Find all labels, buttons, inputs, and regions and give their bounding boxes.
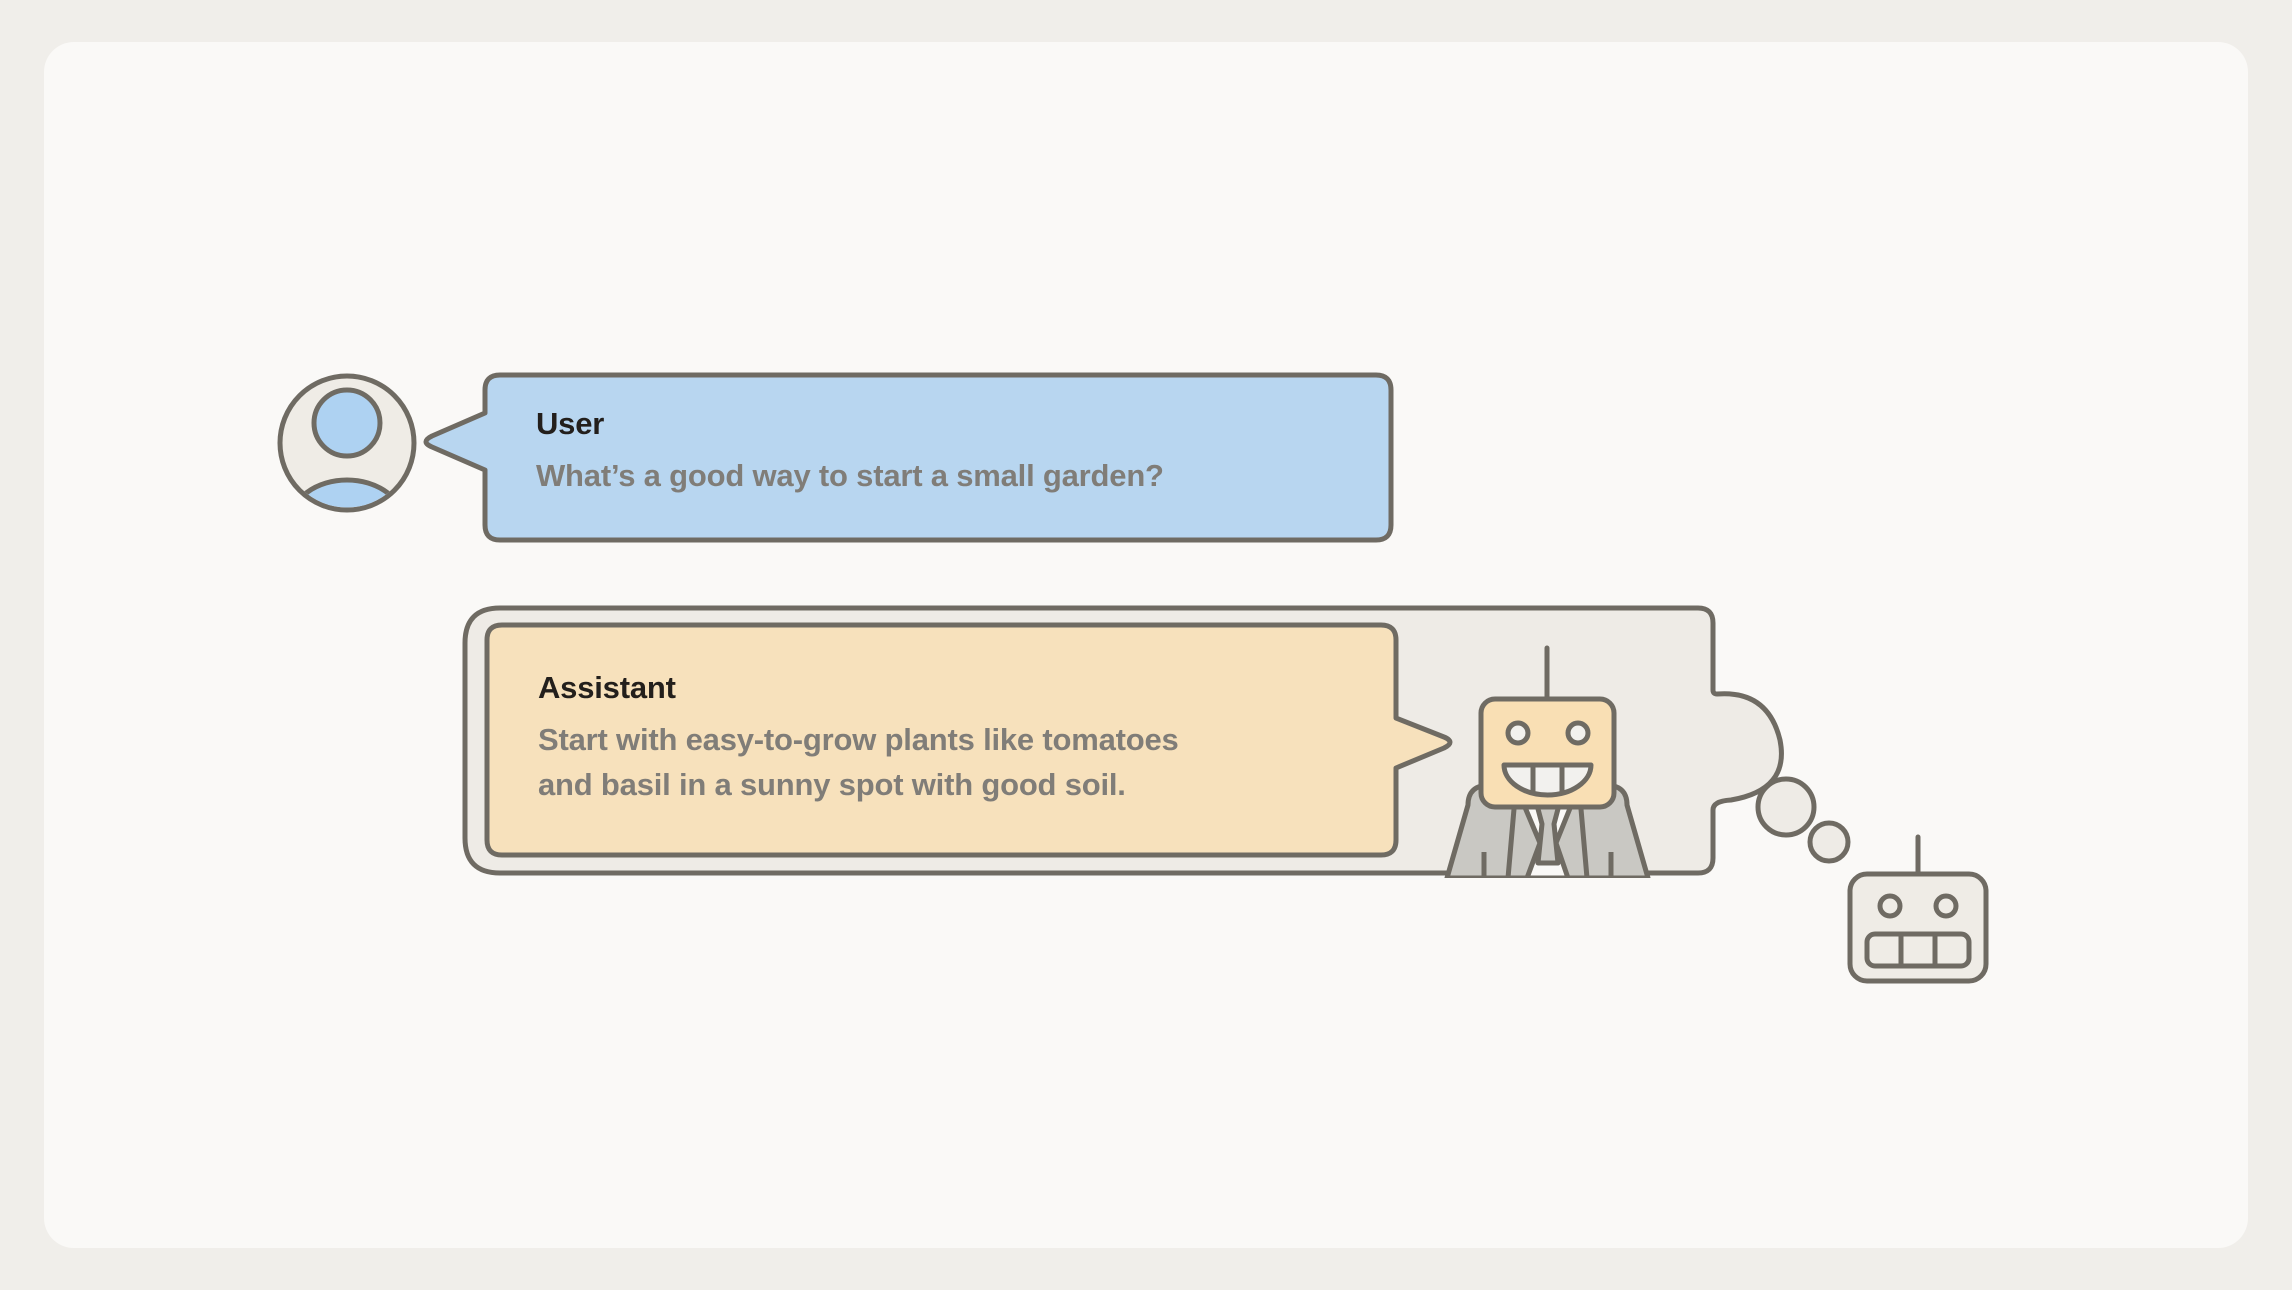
small-robot-head-icon bbox=[1850, 837, 1986, 981]
small-robot-mouth-icon bbox=[1867, 934, 1969, 966]
conversation-illustration bbox=[0, 0, 2292, 1290]
robot-head-icon bbox=[1481, 699, 1614, 807]
thought-trail-circle-large bbox=[1758, 779, 1814, 835]
robot-eye-left bbox=[1508, 723, 1528, 743]
user-message-line: What’s a good way to start a small garde… bbox=[536, 453, 1164, 498]
assistant-message-line: and basil in a sunny spot with good soil… bbox=[538, 762, 1179, 807]
assistant-role-label: Assistant bbox=[538, 672, 1179, 703]
illustration-canvas: User What’s a good way to start a small … bbox=[0, 0, 2292, 1290]
user-avatar-icon bbox=[280, 376, 414, 566]
assistant-message-text-group: Assistant Start with easy-to-grow plants… bbox=[538, 672, 1179, 807]
assistant-message-line: Start with easy-to-grow plants like toma… bbox=[538, 717, 1179, 762]
thought-trail-circle-small bbox=[1810, 823, 1848, 861]
small-robot-eye-right bbox=[1936, 896, 1956, 916]
small-robot-eye-left bbox=[1880, 896, 1900, 916]
robot-eye-right bbox=[1568, 723, 1588, 743]
user-role-label: User bbox=[536, 408, 1164, 439]
user-message-text-group: User What’s a good way to start a small … bbox=[536, 408, 1164, 498]
